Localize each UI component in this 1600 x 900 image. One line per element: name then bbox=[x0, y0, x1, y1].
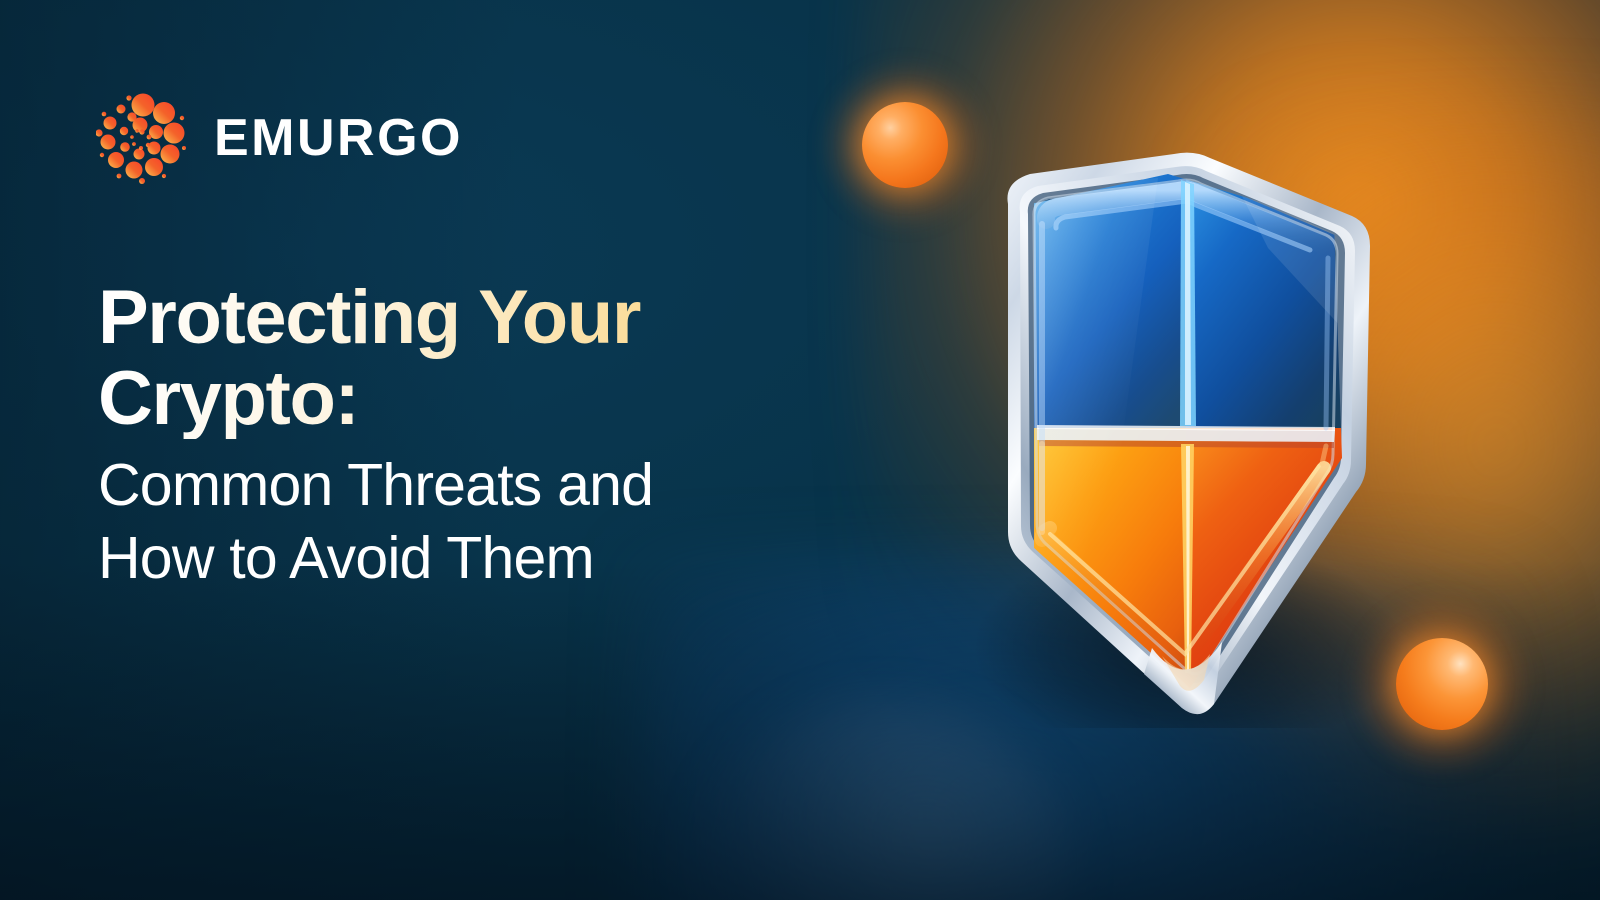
banner-root: EMURGO Protecting Your Crypto: Common Th… bbox=[0, 0, 1600, 900]
emurgo-logo[interactable]: EMURGO bbox=[96, 86, 456, 190]
page-subtitle: Common Threats and How to Avoid Them bbox=[98, 449, 858, 595]
headline-line-2: Crypto: bbox=[98, 359, 858, 440]
emurgo-spiral-dots-logo-icon bbox=[96, 88, 192, 188]
emurgo-wordmark: EMURGO bbox=[214, 112, 463, 164]
subheadline-line-2: How to Avoid Them bbox=[98, 522, 858, 595]
shield-graphic bbox=[938, 128, 1438, 728]
headline-line-1: Protecting Your bbox=[98, 278, 858, 359]
sphere-body bbox=[862, 102, 948, 188]
orange-sphere-top bbox=[862, 102, 948, 188]
page-title: Protecting Your Crypto: bbox=[98, 278, 858, 439]
copy-block: Protecting Your Crypto: Common Threats a… bbox=[98, 278, 858, 595]
subheadline-line-1: Common Threats and bbox=[98, 449, 858, 522]
